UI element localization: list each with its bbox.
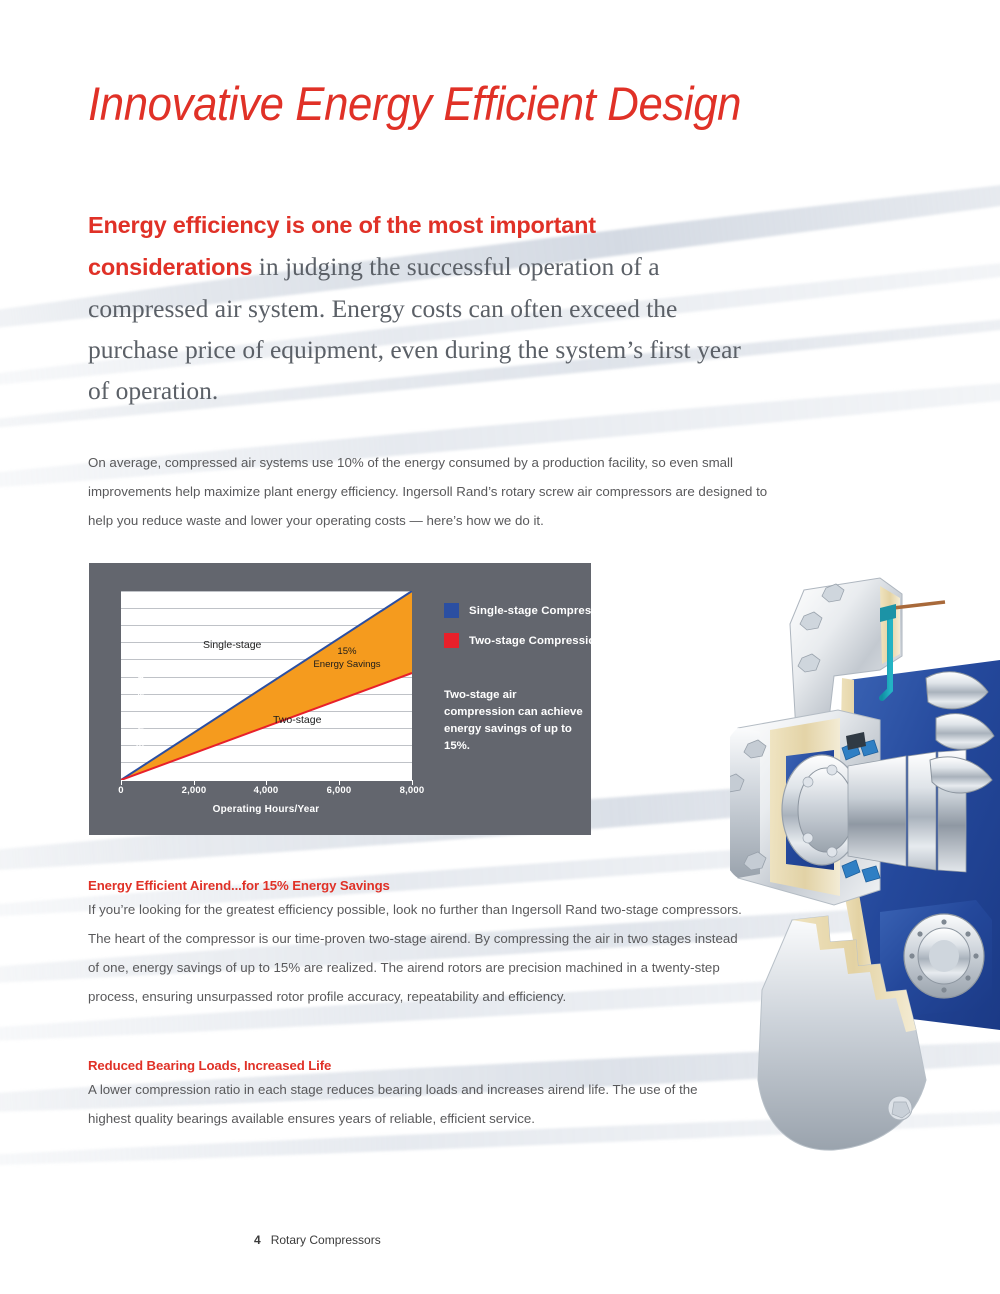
energy-cost-comparison-chart: Single-stage Two-stage 15% Energy Saving… [89,563,591,835]
footer-label: Rotary Compressors [271,1233,381,1247]
legend-item-two-stage: Two-stage Compression [444,633,615,648]
legend-item-single-stage: Single-stage Compression [444,603,615,618]
section-heading-airend: Energy Efficient Airend...for 15% Energy… [88,878,743,893]
footer-page-number: 4 [254,1233,261,1247]
chart-x-axis-title: Operating Hours/Year [213,804,320,815]
two-stage-series-label: Two-stage [273,714,321,726]
chart-plot-area: Single-stage Two-stage 15% Energy Saving… [121,591,412,780]
x-tick-label: 0 [118,785,123,796]
legend-swatch-blue [444,603,459,618]
legend-swatch-red [444,633,459,648]
chart-legend: Single-stage Compression Two-stage Compr… [444,603,615,663]
legend-label-two-stage: Two-stage Compression [469,635,603,647]
section-body-airend: If you’re looking for the greatest effic… [88,895,743,1011]
lead-paragraph: Energy efficiency is one of the most imp… [88,204,748,411]
chart-y-axis-title: Energy Cost/Year [136,647,147,767]
chart-caption: Two-stage air compression can achieve en… [444,687,584,755]
section-heading-bearing: Reduced Bearing Loads, Increased Life [88,1058,743,1073]
page-title: Innovative Energy Efficient Design [88,78,741,130]
page-footer: 4Rotary Compressors [254,1233,381,1247]
savings-annotation-percent: 15% [317,646,377,658]
legend-label-single-stage: Single-stage Compression [469,605,615,617]
section-energy-efficient-airend: Energy Efficient Airend...for 15% Energy… [88,878,743,1011]
section-body-bearing: A lower compression ratio in each stage … [88,1075,743,1133]
x-tick-label: 6,000 [327,785,352,796]
section-reduced-bearing-loads: Reduced Bearing Loads, Increased Life A … [88,1058,743,1133]
single-stage-series-label: Single-stage [203,639,261,651]
x-tick-label: 4,000 [254,785,279,796]
x-tick-label: 2,000 [182,785,207,796]
compressor-airend-cutaway-illustration [730,560,1000,1180]
savings-annotation-text: Energy Savings [307,659,387,671]
intro-paragraph: On average, compressed air systems use 1… [88,448,768,535]
x-tick-label: 8,000 [400,785,425,796]
chart-series-svg [121,591,412,780]
